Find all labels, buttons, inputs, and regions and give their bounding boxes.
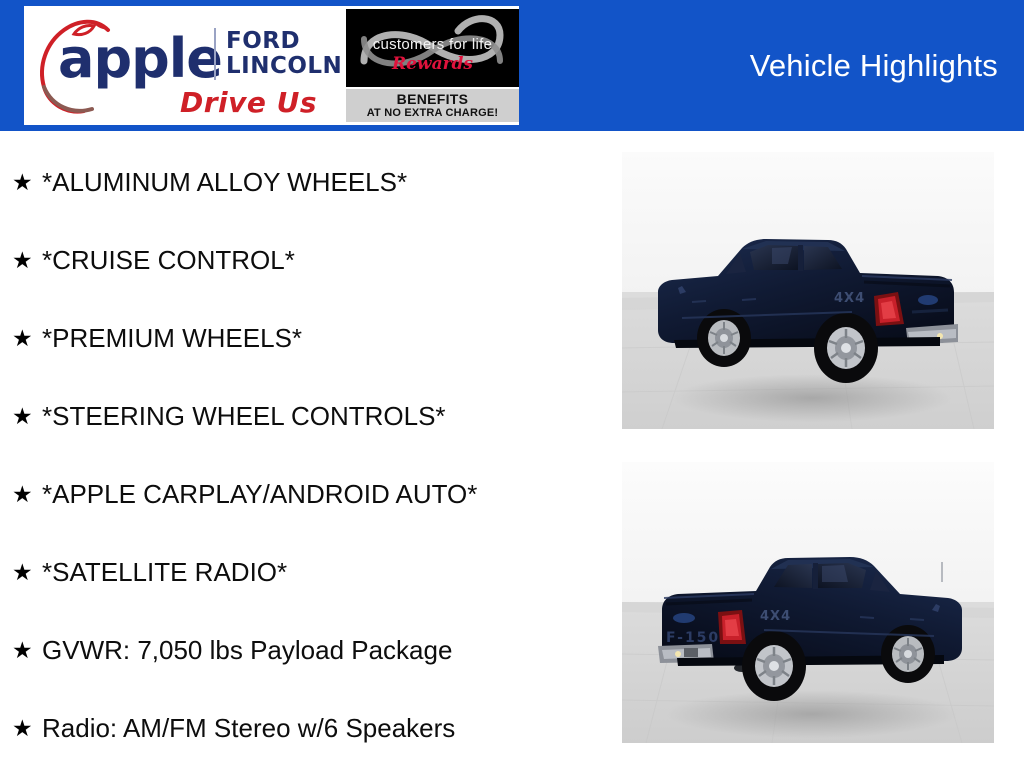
star-bullet-icon: ★ <box>12 561 42 584</box>
list-item: ★ *SATELLITE RADIO* <box>0 533 600 611</box>
list-item: ★ *PREMIUM WHEELS* <box>0 299 600 377</box>
highlight-label: *PREMIUM WHEELS* <box>42 323 600 353</box>
vehicle-highlights-list: ★ *ALUMINUM ALLOY WHEELS* ★ *CRUISE CONT… <box>0 131 600 768</box>
logo-divider <box>214 28 216 80</box>
list-item: ★ Radio: AM/FM Stereo w/6 Speakers <box>0 689 600 767</box>
page-header: apple FORD LINCOLN Drive Us customers fo… <box>0 0 1024 131</box>
drive-us-tagline: Drive Us <box>180 88 317 118</box>
highlight-label: *SATELLITE RADIO* <box>42 557 600 587</box>
list-item: ★ *APPLE CARPLAY/ANDROID AUTO* <box>0 455 600 533</box>
highlight-label: *ALUMINUM ALLOY WHEELS* <box>42 167 600 197</box>
customers-for-life-black-panel: customers for life Rewards <box>346 9 519 87</box>
dealer-logo-card: apple FORD LINCOLN Drive Us customers fo… <box>24 6 519 125</box>
vehicle-photo-rear-driver-side[interactable]: 4X4 <box>622 152 994 429</box>
star-bullet-icon: ★ <box>12 483 42 506</box>
list-item: ★ *ALUMINUM ALLOY WHEELS* <box>0 143 600 221</box>
page-title: Vehicle Highlights <box>750 47 998 85</box>
vehicle-photo-rear-passenger-side[interactable]: 4X4 F-150 <box>622 462 994 743</box>
rewards-script-label: Rewards <box>346 55 519 74</box>
list-item: ★ *STEERING WHEEL CONTROLS* <box>0 377 600 455</box>
highlight-label: *STEERING WHEEL CONTROLS* <box>42 401 600 431</box>
star-bullet-icon: ★ <box>12 327 42 350</box>
apple-ford-lincoln-logo: apple FORD LINCOLN Drive Us <box>24 6 346 125</box>
ford-lincoln-wordmark: FORD LINCOLN <box>226 29 342 79</box>
customers-for-life-panel: customers for life Rewards BENEFITS AT N… <box>346 9 519 122</box>
customers-for-life-headline: customers for life <box>346 36 519 53</box>
ford-label: FORD <box>226 29 342 54</box>
star-bullet-icon: ★ <box>12 249 42 272</box>
highlight-label: *APPLE CARPLAY/ANDROID AUTO* <box>42 479 600 509</box>
star-bullet-icon: ★ <box>12 639 42 662</box>
svg-text:4X4: 4X4 <box>760 609 791 624</box>
lincoln-label: LINCOLN <box>226 54 342 79</box>
star-bullet-icon: ★ <box>12 171 42 194</box>
apple-wordmark: apple <box>58 32 222 86</box>
svg-text:F-150: F-150 <box>666 630 720 646</box>
highlight-label: *CRUISE CONTROL* <box>42 245 600 275</box>
benefits-label: BENEFITS <box>346 92 519 107</box>
list-item: ★ GVWR: 7,050 lbs Payload Package <box>0 611 600 689</box>
star-bullet-icon: ★ <box>12 405 42 428</box>
benefits-strip: BENEFITS AT NO EXTRA CHARGE! <box>346 89 519 122</box>
svg-text:4X4: 4X4 <box>834 291 865 306</box>
no-extra-charge-label: AT NO EXTRA CHARGE! <box>346 107 519 120</box>
list-item: ★ *CRUISE CONTROL* <box>0 221 600 299</box>
highlight-label: GVWR: 7,050 lbs Payload Package <box>42 635 600 665</box>
highlight-label: Radio: AM/FM Stereo w/6 Speakers <box>42 713 600 743</box>
star-bullet-icon: ★ <box>12 717 42 740</box>
